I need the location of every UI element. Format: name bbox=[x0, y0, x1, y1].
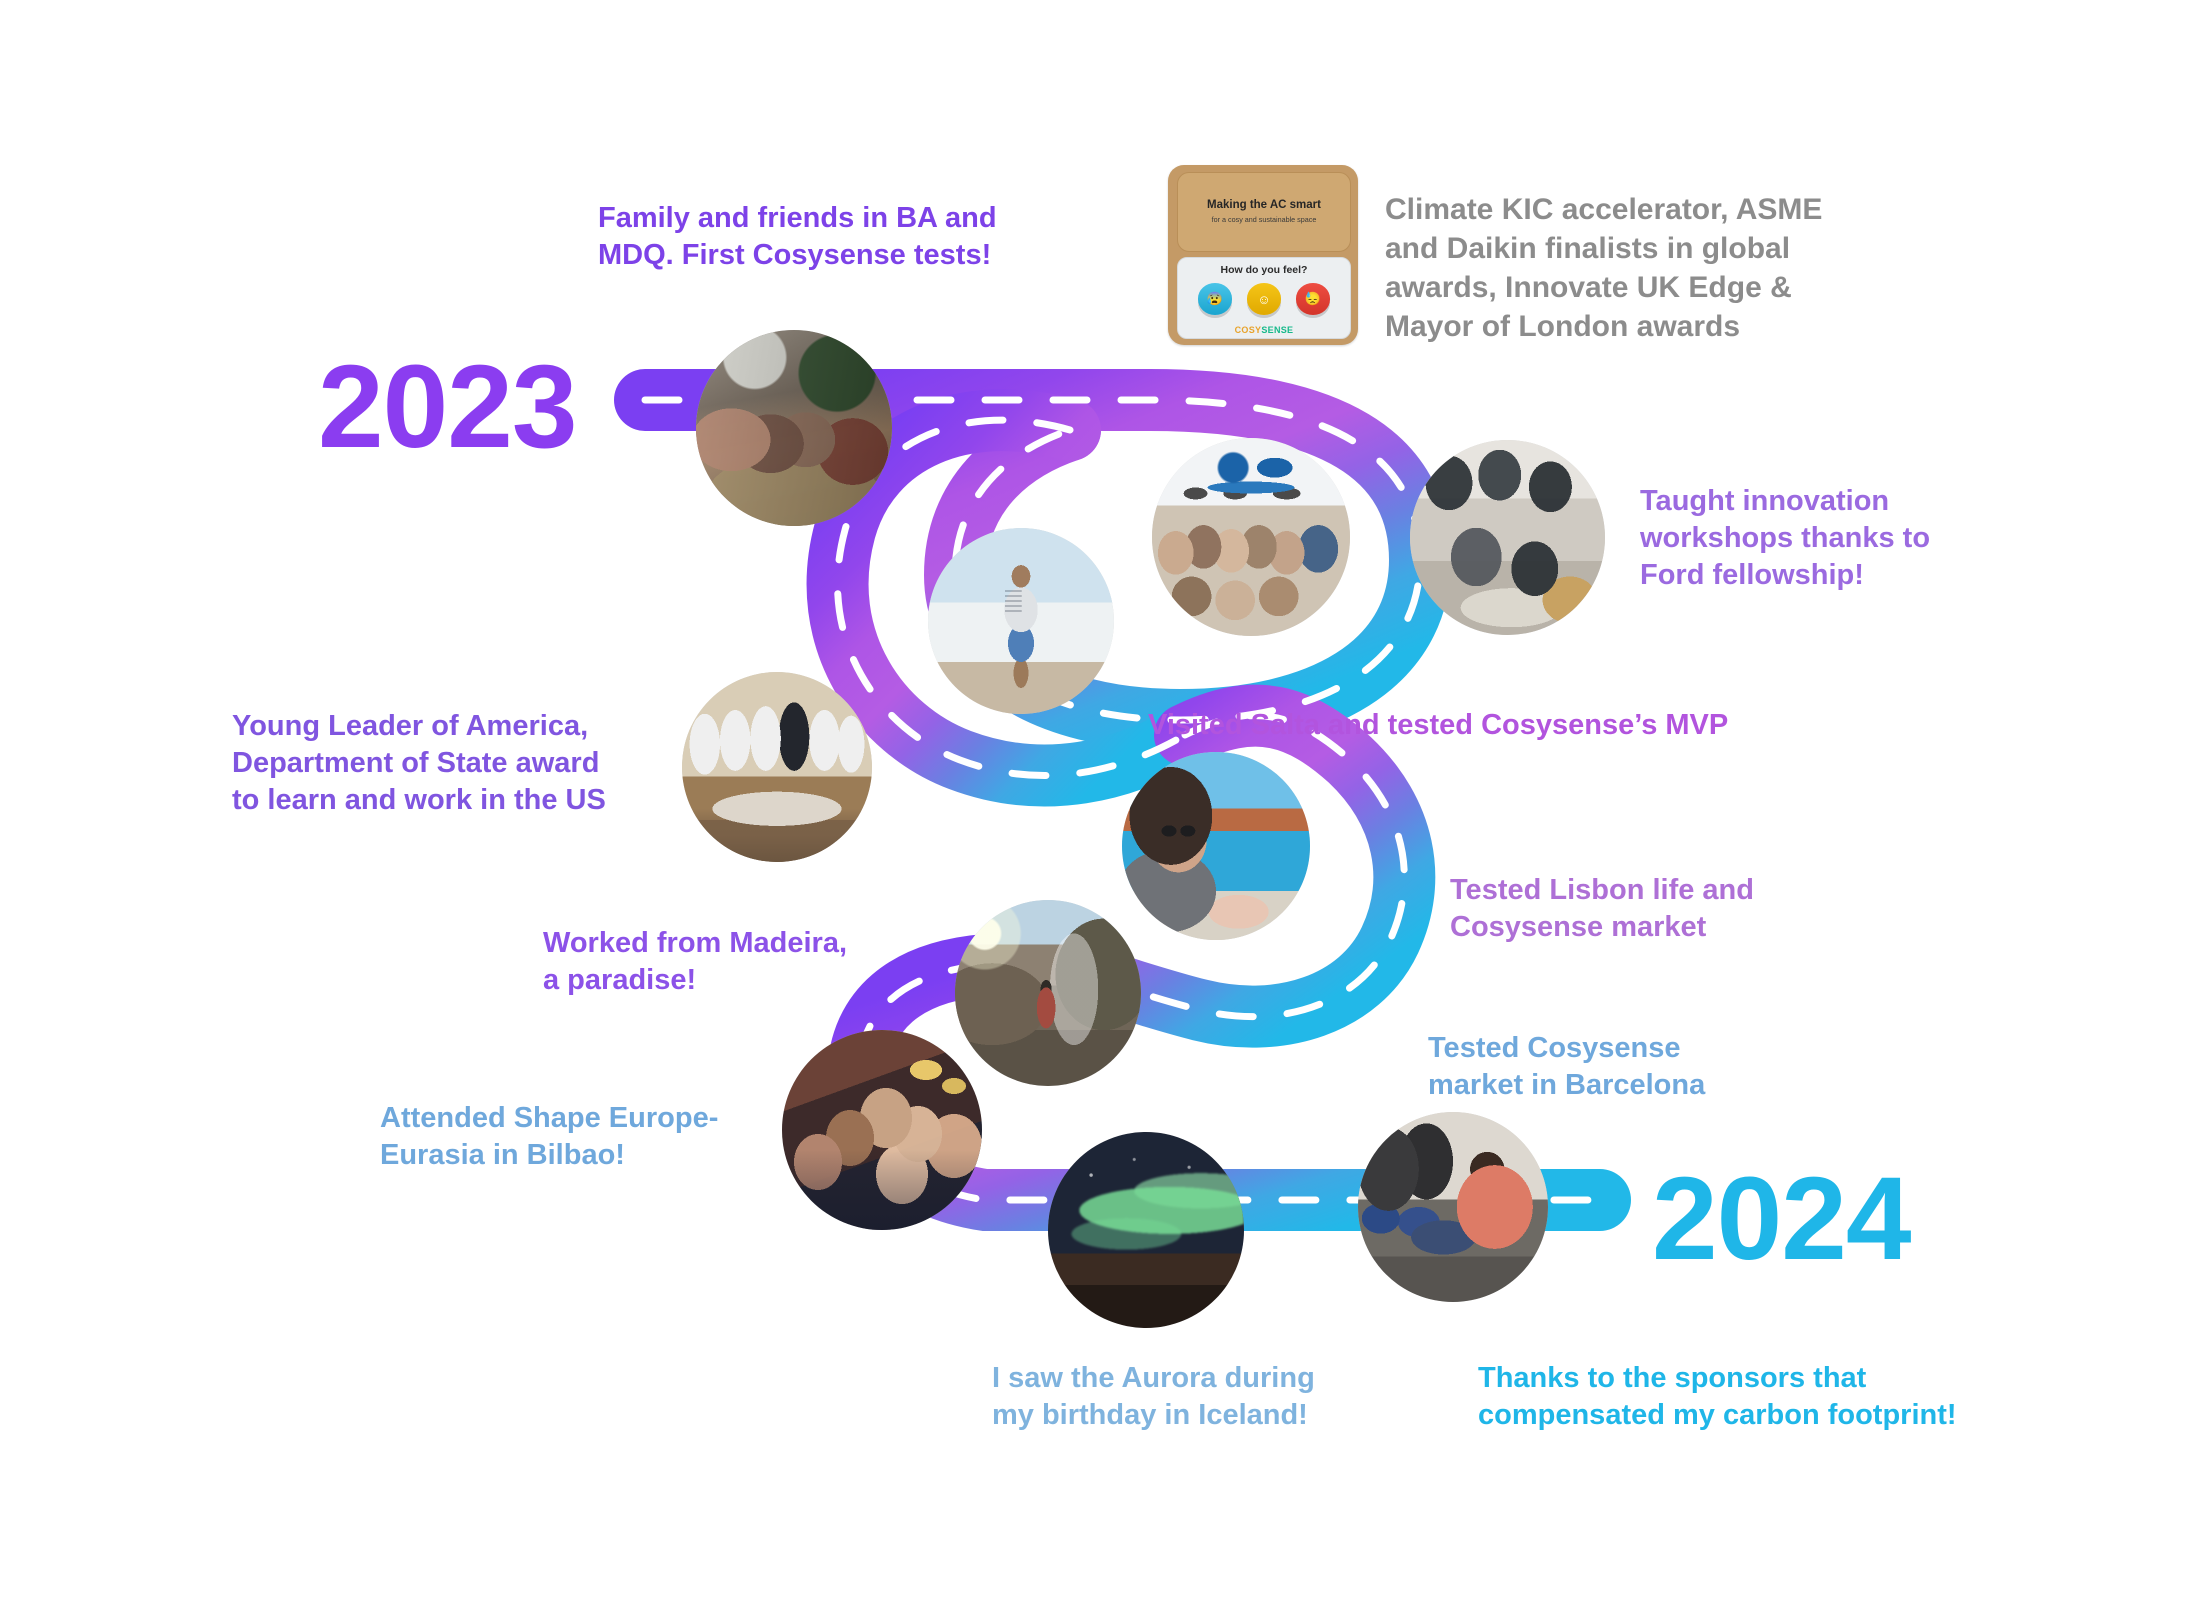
photo-iceland-aurora bbox=[1048, 1132, 1244, 1328]
caption-ford-fellowship: Taught innovation workshops thanks to Fo… bbox=[1640, 483, 1930, 593]
caption-sponsors: Thanks to the sponsors that compensated … bbox=[1478, 1360, 1957, 1434]
caption-lisbon: Tested Lisbon life and Cosysense market bbox=[1450, 872, 1754, 946]
caption-young-leader-america: Young Leader of America, Department of S… bbox=[232, 708, 606, 818]
cosysense-device-photo: Making the AC smart for a cosy and susta… bbox=[1168, 165, 1358, 345]
device-lid-title: Making the AC smart bbox=[1178, 199, 1350, 212]
device-lid: Making the AC smart for a cosy and susta… bbox=[1177, 172, 1351, 252]
photo-family-dinner bbox=[696, 330, 892, 526]
cold-face-button[interactable]: 😰 bbox=[1198, 283, 1232, 315]
logo-sense-text: SENSE bbox=[1261, 325, 1293, 335]
caption-awards: Climate KIC accelerator, ASME and Daikin… bbox=[1385, 190, 1822, 346]
caption-barcelona: Tested Cosysense market in Barcelona bbox=[1428, 1030, 1705, 1104]
device-lid-subtitle: for a cosy and sustainable space bbox=[1178, 215, 1350, 224]
photo-lisbon-pool bbox=[1122, 752, 1310, 940]
year-label-2024: 2024 bbox=[1652, 1160, 1911, 1278]
happy-face-button[interactable]: ☺ bbox=[1247, 283, 1281, 315]
caption-family-friends: Family and friends in BA and MDQ. First … bbox=[598, 200, 997, 274]
caption-aurora-iceland: I saw the Aurora during my birthday in I… bbox=[992, 1360, 1315, 1434]
timeline-infographic: Making the AC smart for a cosy and susta… bbox=[0, 0, 2200, 1600]
device-panel: How do you feel? 😰 ☺ 😓 COSYSENSE bbox=[1177, 257, 1351, 339]
hot-face-button[interactable]: 😓 bbox=[1296, 283, 1330, 315]
photo-madeira-waterfall bbox=[955, 900, 1141, 1086]
photo-classroom-workshop bbox=[1410, 440, 1605, 635]
photo-shaping-group bbox=[1152, 438, 1350, 636]
logo-cosy-text: COSY bbox=[1235, 325, 1262, 335]
photo-bilbao-selfie bbox=[782, 1030, 982, 1230]
year-label-2023: 2023 bbox=[318, 348, 577, 466]
caption-bilbao: Attended Shape Europe- Eurasia in Bilbao… bbox=[380, 1100, 718, 1174]
cosysense-logo: COSYSENSE bbox=[1178, 325, 1350, 335]
caption-madeira: Worked from Madeira, a paradise! bbox=[543, 925, 847, 999]
device-question: How do you feel? bbox=[1178, 264, 1350, 276]
photo-salta-salt-flat bbox=[928, 528, 1114, 714]
photo-ylai-award bbox=[682, 672, 872, 862]
caption-salta-mvp: Visited Salta and tested Cosysense’s MVP bbox=[1148, 707, 1728, 744]
photo-remote-work-sofa bbox=[1358, 1112, 1548, 1302]
